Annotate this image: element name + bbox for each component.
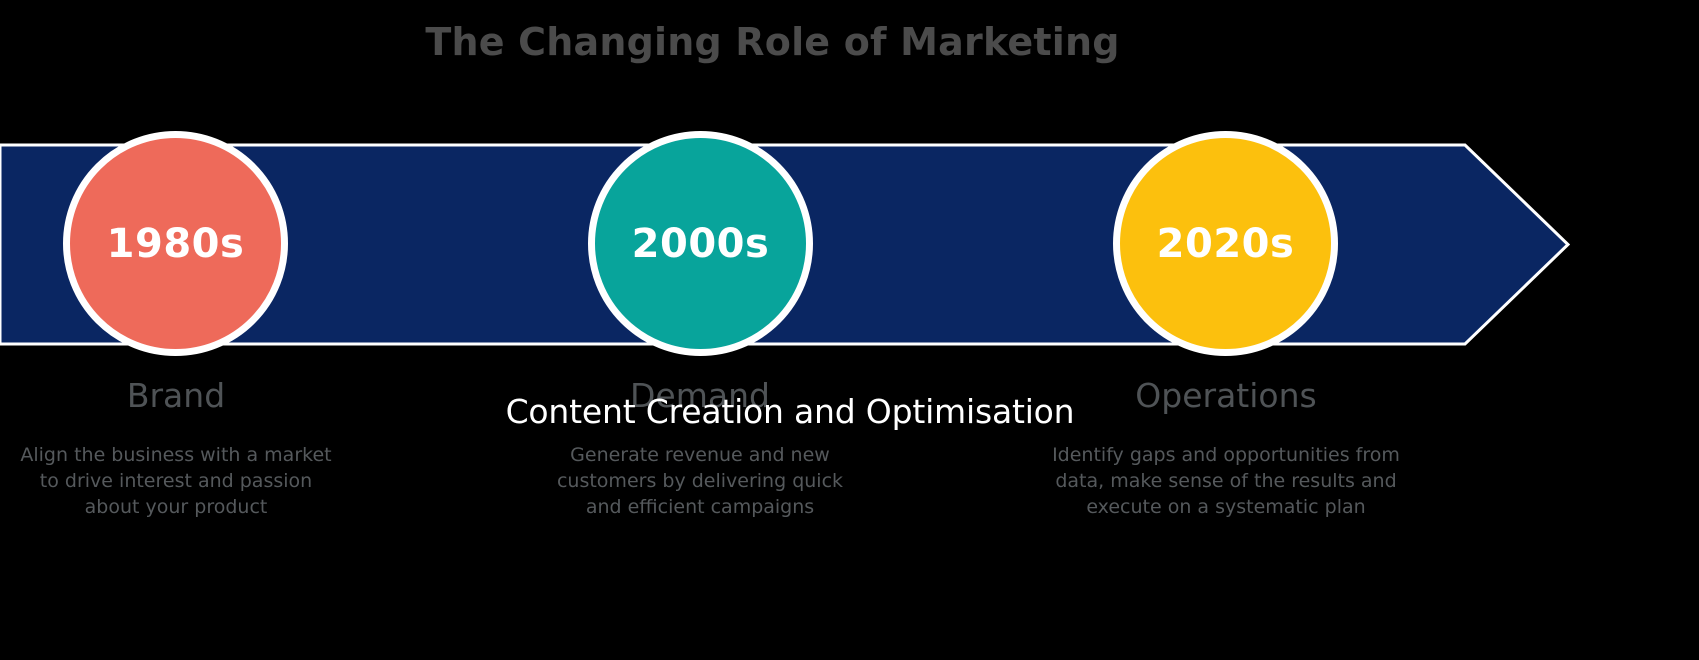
overlay-headline: Content Creation and Optimisation [0, 392, 1580, 431]
stage-description-demand: Generate revenue and new customers by de… [520, 442, 880, 520]
stage-decade-label: 1980s [107, 224, 245, 264]
stage-description-line: Generate revenue and new [520, 442, 880, 468]
stage-description-line: Align the business with a market [0, 442, 356, 468]
stage-circle-1980s[interactable]: 1980s [63, 131, 288, 356]
stage-description-line: to drive interest and passion [0, 468, 356, 494]
stage-description-line: customers by delivering quick [520, 468, 880, 494]
stage-description-line: data, make sense of the results and [1046, 468, 1406, 494]
stage-circle-2000s[interactable]: 2000s [588, 131, 813, 356]
stage-description-line: Identify gaps and opportunities from [1046, 442, 1406, 468]
stage-circle-2020s[interactable]: 2020s [1113, 131, 1338, 356]
infographic-canvas: The Changing Role of Marketing 1980s 200… [0, 0, 1699, 660]
stage-description-line: and efficient campaigns [520, 494, 880, 520]
stage-description-line: about your product [0, 494, 356, 520]
stage-description-brand: Align the business with a market to driv… [0, 442, 356, 520]
stage-decade-label: 2000s [632, 224, 770, 264]
page-title: The Changing Role of Marketing [0, 20, 1545, 64]
stage-decade-label: 2020s [1157, 224, 1295, 264]
stage-description-operations: Identify gaps and opportunities from dat… [1046, 442, 1406, 520]
stage-description-line: execute on a systematic plan [1046, 494, 1406, 520]
